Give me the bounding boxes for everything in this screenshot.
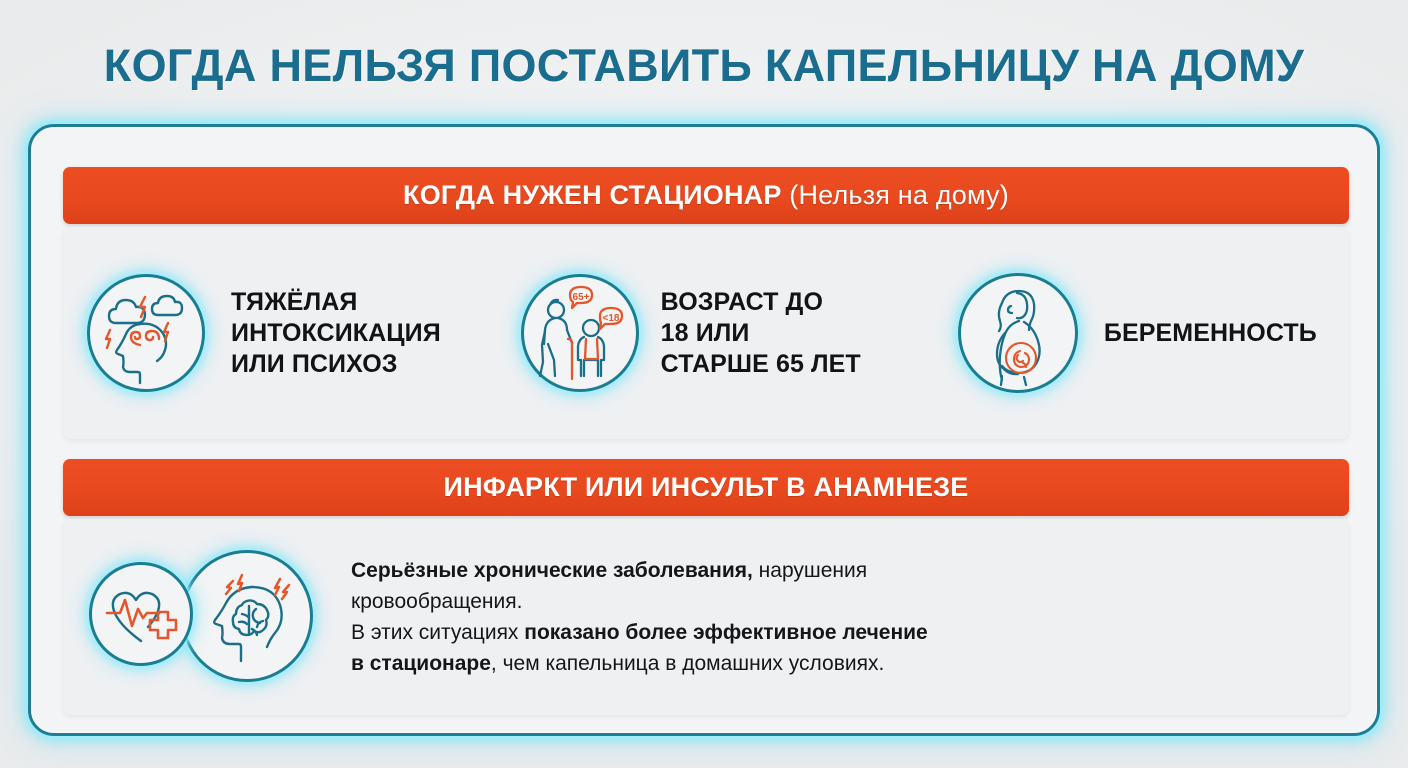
section2-icon-group (81, 542, 327, 692)
section2-paragraph: Серьёзные хронические заболевания, наруш… (351, 555, 928, 679)
section2-panel: Серьёзные хронические заболевания, наруш… (63, 519, 1349, 715)
paragraph-line4-bold: в стационаре (351, 652, 491, 675)
bubble-text-under18: <18 (602, 313, 619, 324)
brain-stroke-icon (181, 550, 313, 682)
section1-header-bar: КОГДА НУЖЕН СТАЦИОНАР (Нельзя на дому) (63, 167, 1349, 224)
age-limits-icon: 65+ <18 (521, 274, 639, 392)
item-age-label: ВОЗРАСТ ДО 18 ИЛИ СТАРШЕ 65 ЛЕТ (661, 287, 861, 380)
section2-header-text: ИНФАРКТ ИЛИ ИНСУЛЬТ В АНАМНЕЗЕ (443, 472, 968, 503)
paragraph-line1-bold: Серьёзные хронические заболевания, (351, 559, 753, 582)
paragraph-line3-pre: В этих ситуациях (351, 621, 524, 644)
heart-ecg-cross-icon (89, 562, 193, 666)
item-pregnancy-label: БЕРЕМЕННОСТЬ (1104, 318, 1317, 349)
page-title: КОГДА НЕЛЬЗЯ ПОСТАВИТЬ КАПЕЛЬНИЦУ НА ДОМ… (0, 40, 1408, 92)
item-intoxication-label: ТЯЖЁЛАЯ ИНТОКСИКАЦИЯ ИЛИ ПСИХОЗ (231, 287, 441, 380)
section1-header-text: КОГДА НУЖЕН СТАЦИОНАР (Нельзя на дому) (403, 180, 1009, 211)
infographic-canvas: КОГДА НЕЛЬЗЯ ПОСТАВИТЬ КАПЕЛЬНИЦУ НА ДОМ… (0, 0, 1408, 768)
section1-panel: ТЯЖЁЛАЯ ИНТОКСИКАЦИЯ ИЛИ ПСИХОЗ (63, 227, 1349, 439)
section1-header-light: (Нельзя на дому) (782, 180, 1009, 210)
item-pregnancy: БЕРЕМЕННОСТЬ (944, 227, 1349, 439)
item-age-limits: 65+ <18 ВОЗРАСТ ДО 18 ИЛИ СТАРШЕ 65 ЛЕТ (507, 227, 944, 439)
intoxication-psychosis-icon (87, 274, 205, 392)
paragraph-line4-rest: , чем капельница в домашних условиях. (491, 652, 884, 675)
section2-header-bar: ИНФАРКТ ИЛИ ИНСУЛЬТ В АНАМНЕЗЕ (63, 459, 1349, 516)
content-frame: КОГДА НУЖЕН СТАЦИОНАР (Нельзя на дому) (28, 124, 1380, 736)
bubble-text-65plus: 65+ (572, 292, 589, 303)
paragraph-line2: кровообращения. (351, 590, 522, 613)
section1-header-bold: КОГДА НУЖЕН СТАЦИОНАР (403, 180, 782, 210)
item-intoxication-psychosis: ТЯЖЁЛАЯ ИНТОКСИКАЦИЯ ИЛИ ПСИХОЗ (63, 227, 507, 439)
paragraph-line1-rest: нарушения (753, 559, 867, 582)
paragraph-line3-bold: показано более эффективное лечение (524, 621, 927, 644)
section2-content: Серьёзные хронические заболевания, наруш… (63, 519, 1349, 715)
pregnancy-icon (958, 273, 1078, 393)
section1-items-row: ТЯЖЁЛАЯ ИНТОКСИКАЦИЯ ИЛИ ПСИХОЗ (63, 227, 1349, 439)
